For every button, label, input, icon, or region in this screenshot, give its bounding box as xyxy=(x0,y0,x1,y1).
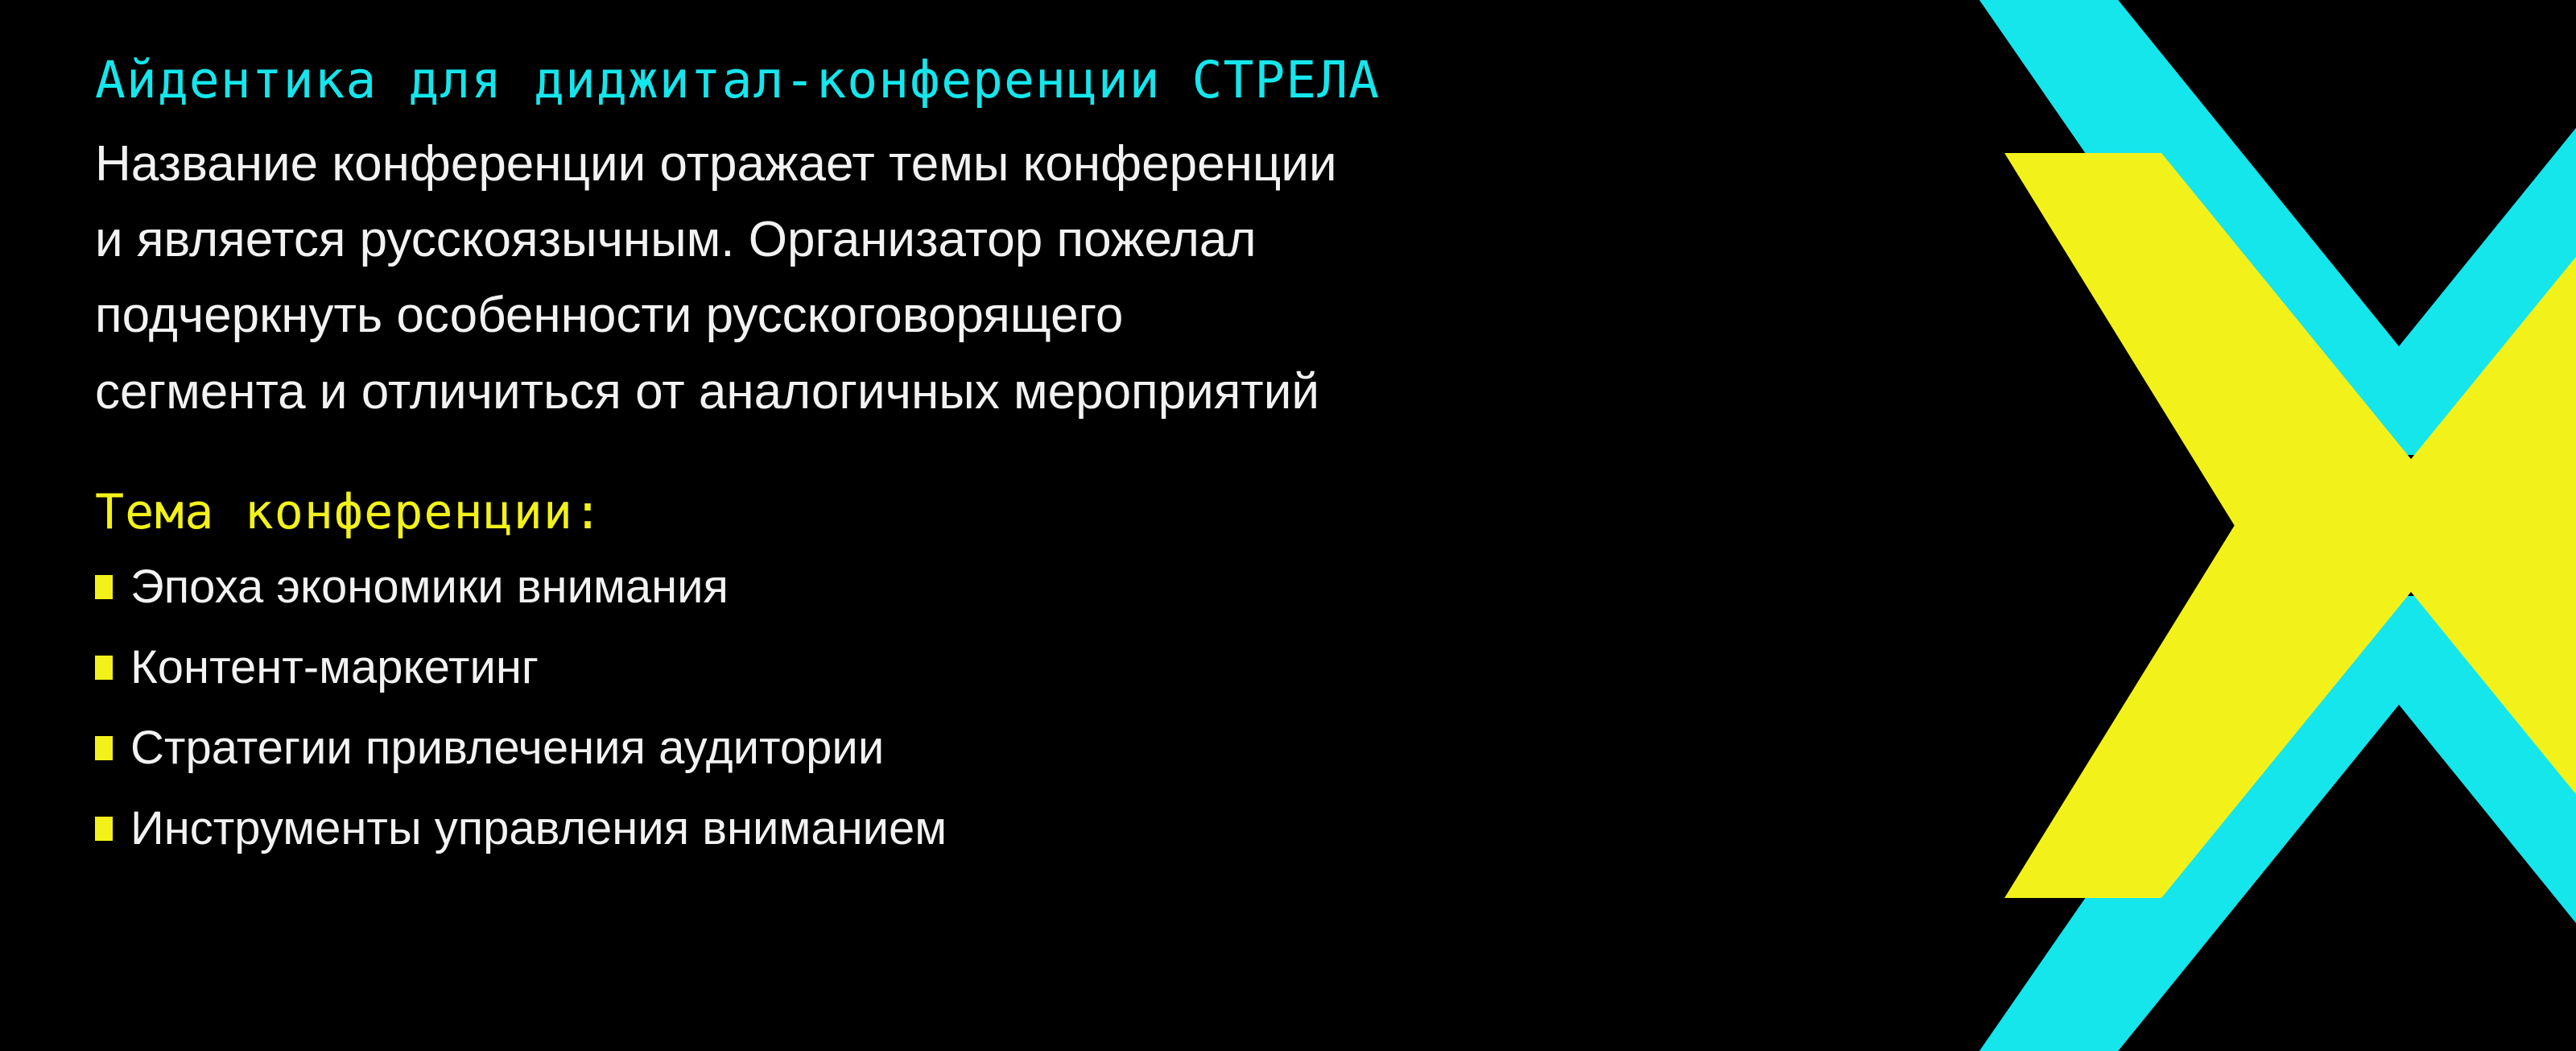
page-title: Айдентика для диджитал-конференции СТРЕЛ… xyxy=(95,55,1850,106)
list-item: Контент-маркетинг xyxy=(95,644,1850,691)
list-item-label: Стратегии привлечения аудитории xyxy=(130,725,884,772)
list-item-label: Эпоха экономики внимания xyxy=(130,564,729,610)
description-line: Название конференции отражает темы конфе… xyxy=(95,126,1826,202)
list-item-label: Инструменты управления вниманием xyxy=(130,805,947,852)
square-bullet-icon xyxy=(95,656,113,680)
description-paragraph: Название конференции отражает темы конфе… xyxy=(95,126,1826,430)
text-content-column: Айдентика для диджитал-конференции СТРЕЛ… xyxy=(95,55,1850,852)
section-heading: Тема конференции: xyxy=(95,488,1850,536)
list-item-label: Контент-маркетинг xyxy=(130,644,539,691)
list-item: Эпоха экономики внимания xyxy=(95,564,1850,610)
strela-x-monogram-icon xyxy=(1916,0,2576,1051)
description-line: сегмента и отличиться от аналогичных мер… xyxy=(95,354,1826,430)
list-item: Инструменты управления вниманием xyxy=(95,805,1850,852)
list-item: Стратегии привлечения аудитории xyxy=(95,725,1850,772)
description-line: подчеркнуть особенности русскоговорящего xyxy=(95,278,1826,354)
topics-list: Эпоха экономики внимания Контент-маркети… xyxy=(95,564,1850,852)
square-bullet-icon xyxy=(95,817,113,841)
square-bullet-icon xyxy=(95,736,113,760)
strela-logo xyxy=(1916,0,2576,1051)
square-bullet-icon xyxy=(95,575,113,599)
description-line: и является русскоязычным. Организатор по… xyxy=(95,202,1826,278)
presentation-slide: Айдентика для диджитал-конференции СТРЕЛ… xyxy=(0,0,2576,1051)
